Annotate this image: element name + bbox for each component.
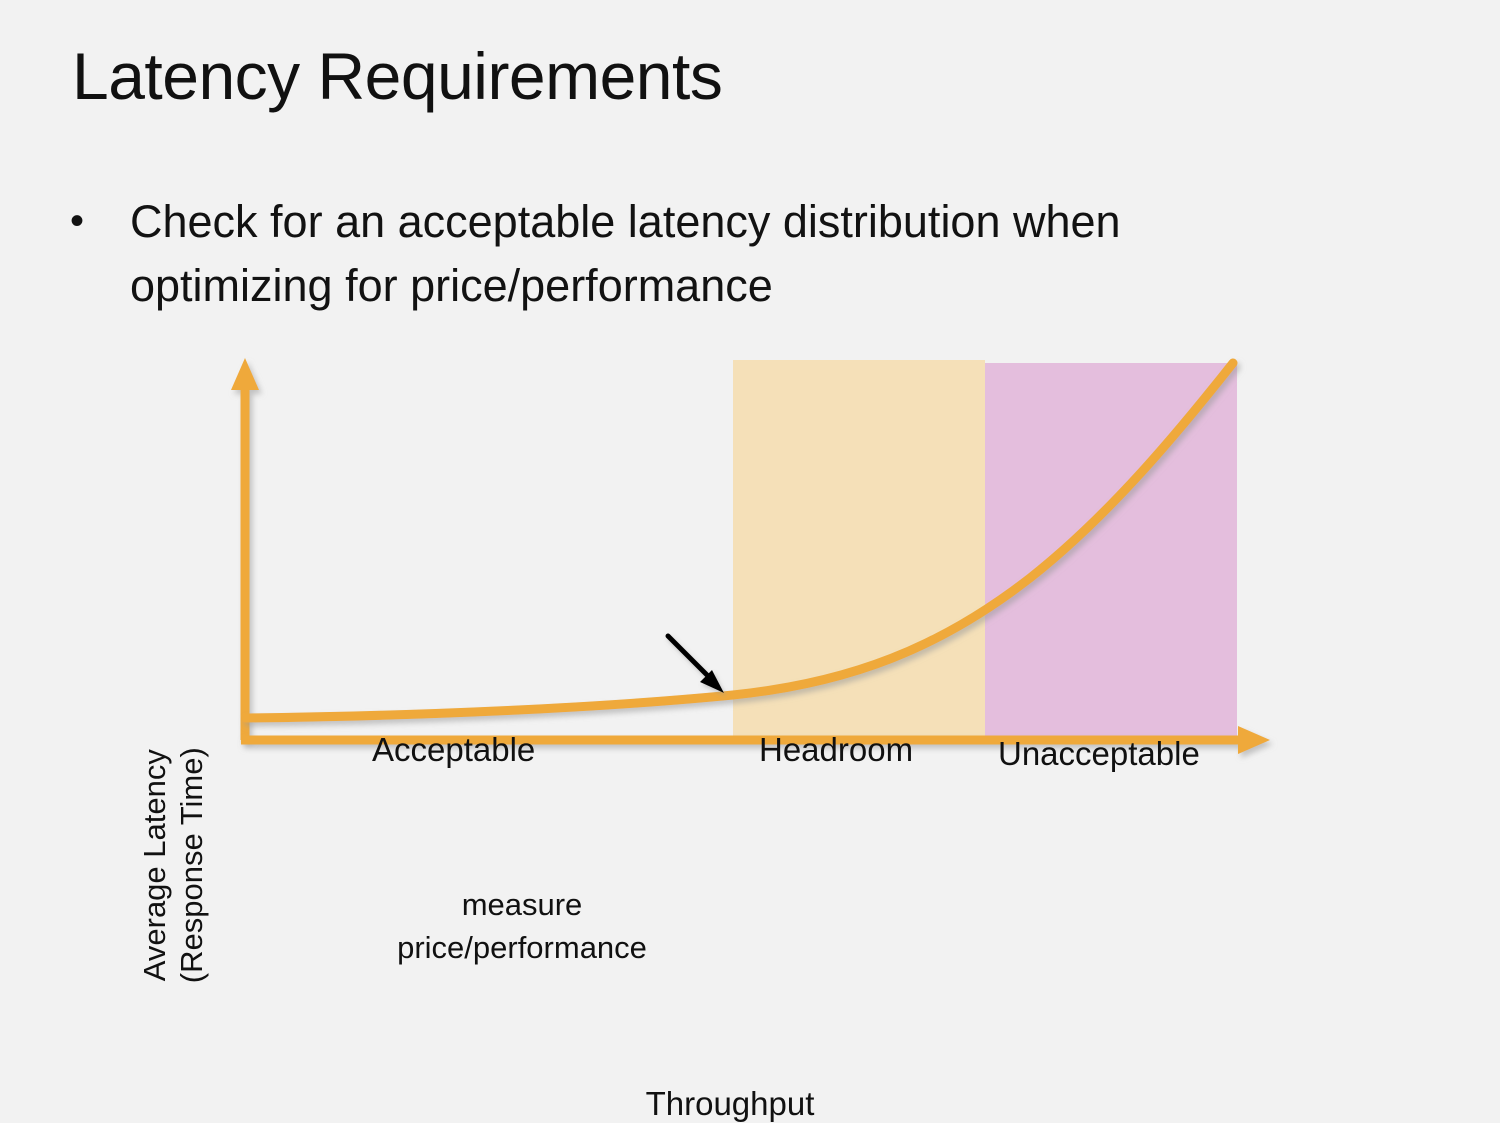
- region-label-acceptable: Acceptable: [372, 730, 535, 770]
- x-axis-label: Throughput: [560, 1085, 900, 1123]
- region-headroom: [733, 360, 985, 740]
- annotation-arrow-icon: [668, 636, 724, 693]
- region-label-headroom: Headroom: [759, 730, 913, 770]
- bullet-list: • Check for an acceptable latency distri…: [70, 190, 1370, 318]
- bullet-text: Check for an acceptable latency distribu…: [130, 190, 1330, 318]
- annotation-measure-price-performance: measure price/performance: [366, 883, 678, 969]
- y-axis-label: Average Latency (Response Time): [136, 685, 210, 1045]
- y-axis-arrow: [231, 358, 259, 740]
- y-axis-label-line-2: (Response Time): [173, 685, 210, 1045]
- page-title: Latency Requirements: [72, 42, 722, 112]
- chart-canvas: [0, 330, 1500, 844]
- annotation-line-2: price/performance: [366, 926, 678, 969]
- y-axis-label-line-1: Average Latency: [136, 685, 173, 1045]
- bullet-marker-icon: •: [70, 190, 130, 252]
- region-label-unacceptable: Unacceptable: [998, 734, 1200, 774]
- region-unacceptable: [985, 363, 1237, 740]
- annotation-line-1: measure: [366, 883, 678, 926]
- latency-throughput-chart: Acceptable Headroom Unacceptable measure…: [0, 330, 1500, 844]
- list-item: • Check for an acceptable latency distri…: [70, 190, 1370, 318]
